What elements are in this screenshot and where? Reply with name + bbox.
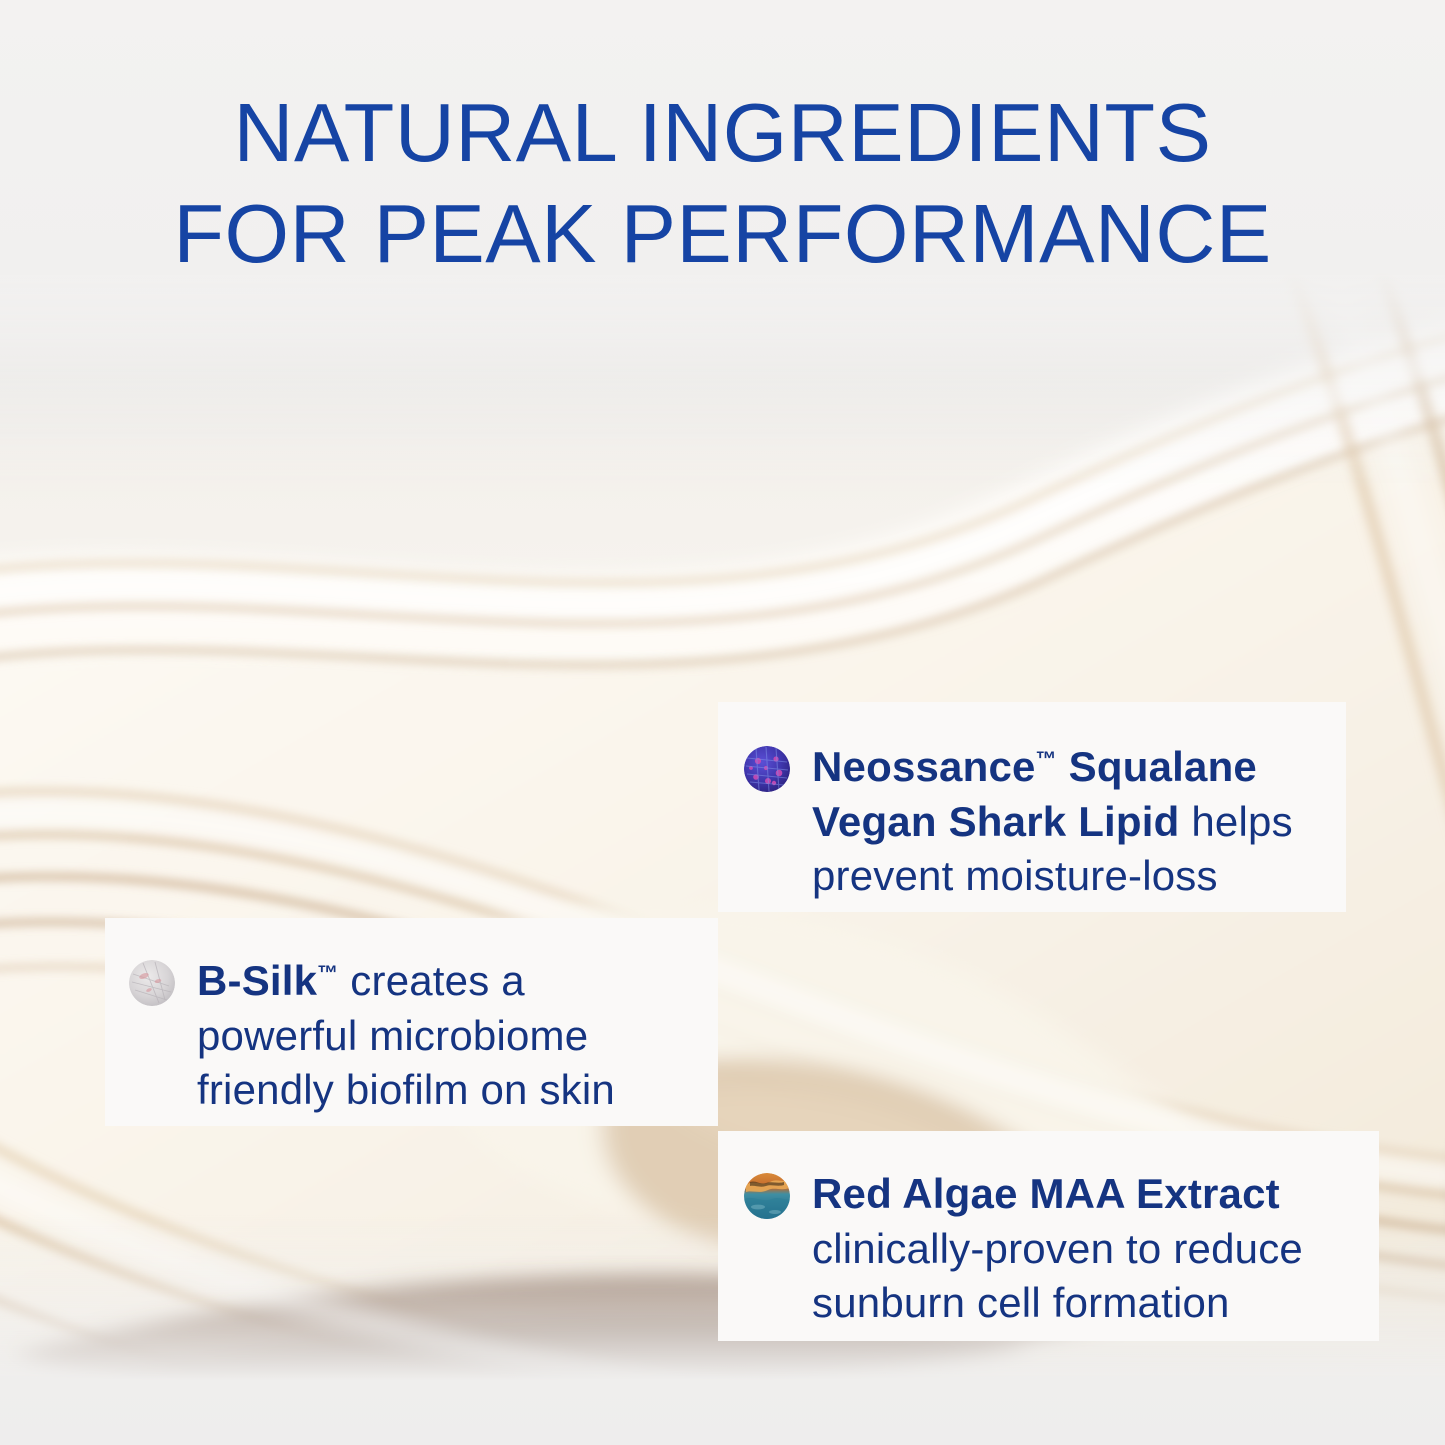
trademark-symbol: ™ — [317, 962, 338, 985]
page-title: NATURAL INGREDIENTS FOR PEAK PERFORMANCE — [0, 82, 1445, 285]
ingredient-name: B-Silk — [197, 957, 317, 1004]
ingredient-name: Neossance — [812, 743, 1036, 790]
neossance-squalane-swatch-icon — [744, 746, 790, 792]
ingredient-name: Red Algae MAA Extract — [812, 1170, 1280, 1217]
ingredient-card-red-algae-maa-extract: Red Algae MAA Extract clinically-proven … — [718, 1131, 1379, 1341]
ingredient-card-b-silk: B-Silk™ creates a powerful microbiome fr… — [105, 918, 718, 1126]
product-ingredients-infographic: NATURAL INGREDIENTS FOR PEAK PERFORMANCE — [0, 0, 1445, 1445]
ingredient-card-b-silk-text: B-Silk™ creates a powerful microbiome fr… — [197, 954, 696, 1118]
ingredient-card-neossance-squalane: Neossance™ Squalane Vegan Shark Lipid he… — [718, 702, 1346, 912]
red-algae-maa-extract-swatch-icon — [744, 1173, 790, 1219]
ingredient-card-red-algae-maa-extract-text: Red Algae MAA Extract clinically-proven … — [812, 1167, 1355, 1331]
ingredient-card-neossance-squalane-text: Neossance™ Squalane Vegan Shark Lipid he… — [812, 740, 1320, 904]
ingredient-description: clinically-proven to reduce sunburn cell… — [812, 1225, 1303, 1327]
b-silk-swatch-icon — [129, 960, 175, 1006]
trademark-symbol: ™ — [1036, 748, 1057, 771]
